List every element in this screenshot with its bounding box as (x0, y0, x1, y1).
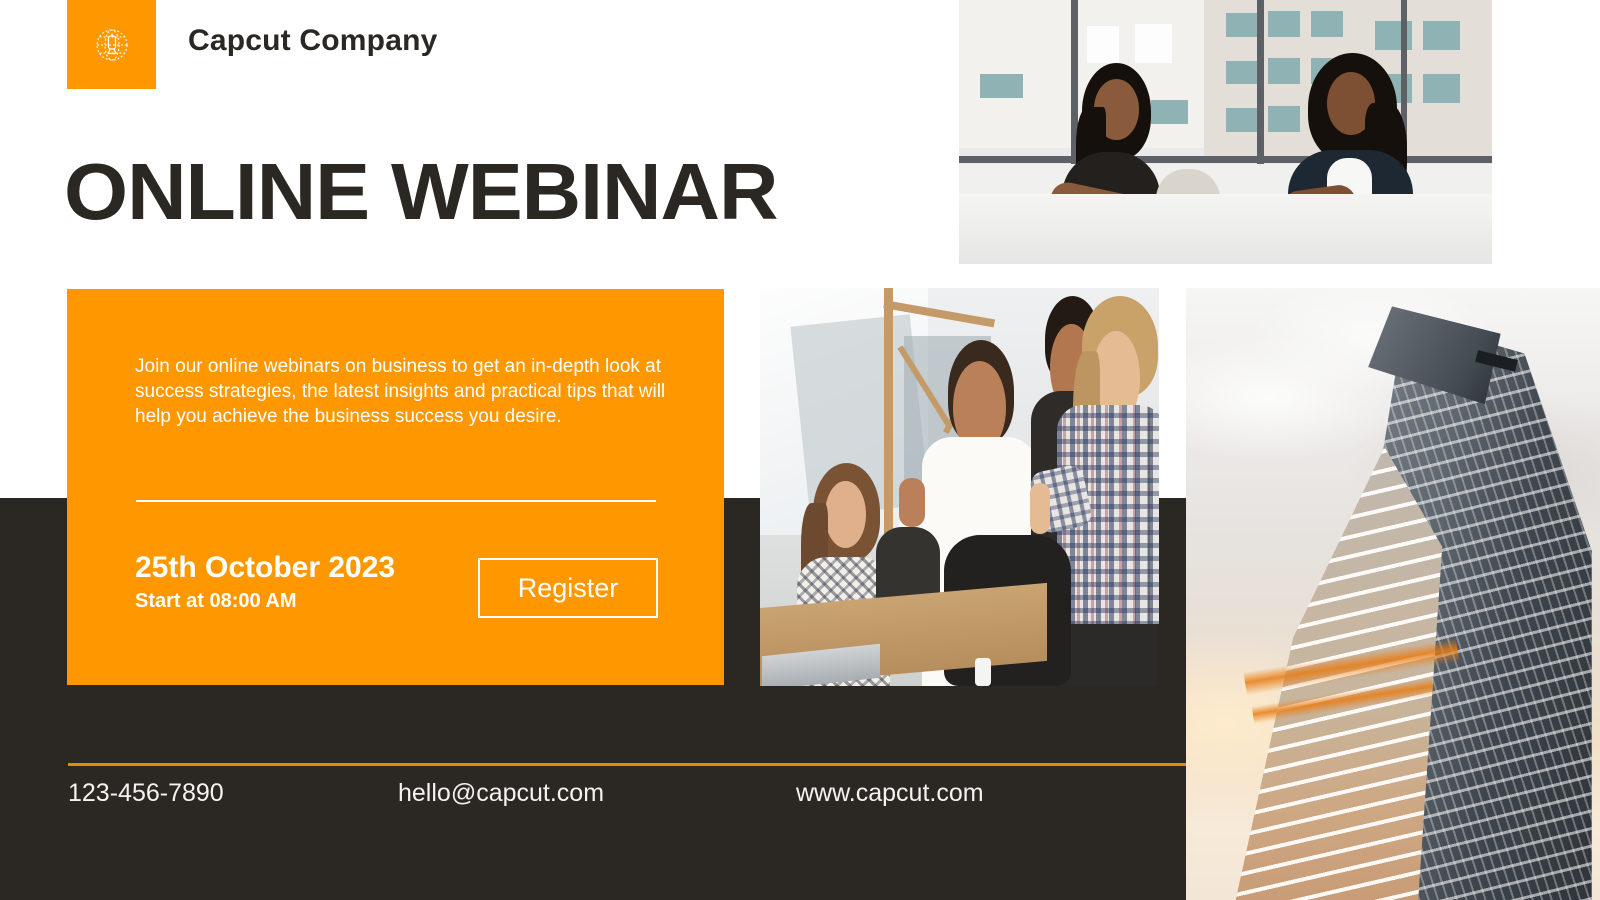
register-button[interactable]: Register (478, 558, 658, 618)
skyscraper-photo (1186, 288, 1600, 900)
contact-website[interactable]: www.capcut.com (796, 779, 984, 808)
logo-tile (67, 0, 156, 89)
info-panel: Join our online webinars on business to … (67, 289, 724, 685)
page-title: ONLINE WEBINAR (64, 152, 777, 232)
panel-divider (136, 500, 656, 502)
team-photo (760, 288, 1159, 686)
description-text: Join our online webinars on business to … (135, 354, 675, 429)
globe-wreath-icon (89, 22, 135, 68)
company-name: Capcut Company (188, 24, 438, 58)
meeting-photo (959, 0, 1492, 264)
event-time: Start at 08:00 AM (135, 590, 297, 613)
webinar-poster: Capcut Company ONLINE WEBINAR Join our o… (0, 0, 1600, 900)
contact-email[interactable]: hello@capcut.com (398, 779, 604, 808)
footer-divider (68, 763, 1186, 766)
event-date: 25th October 2023 (135, 551, 395, 585)
contact-phone[interactable]: 123-456-7890 (68, 779, 224, 808)
